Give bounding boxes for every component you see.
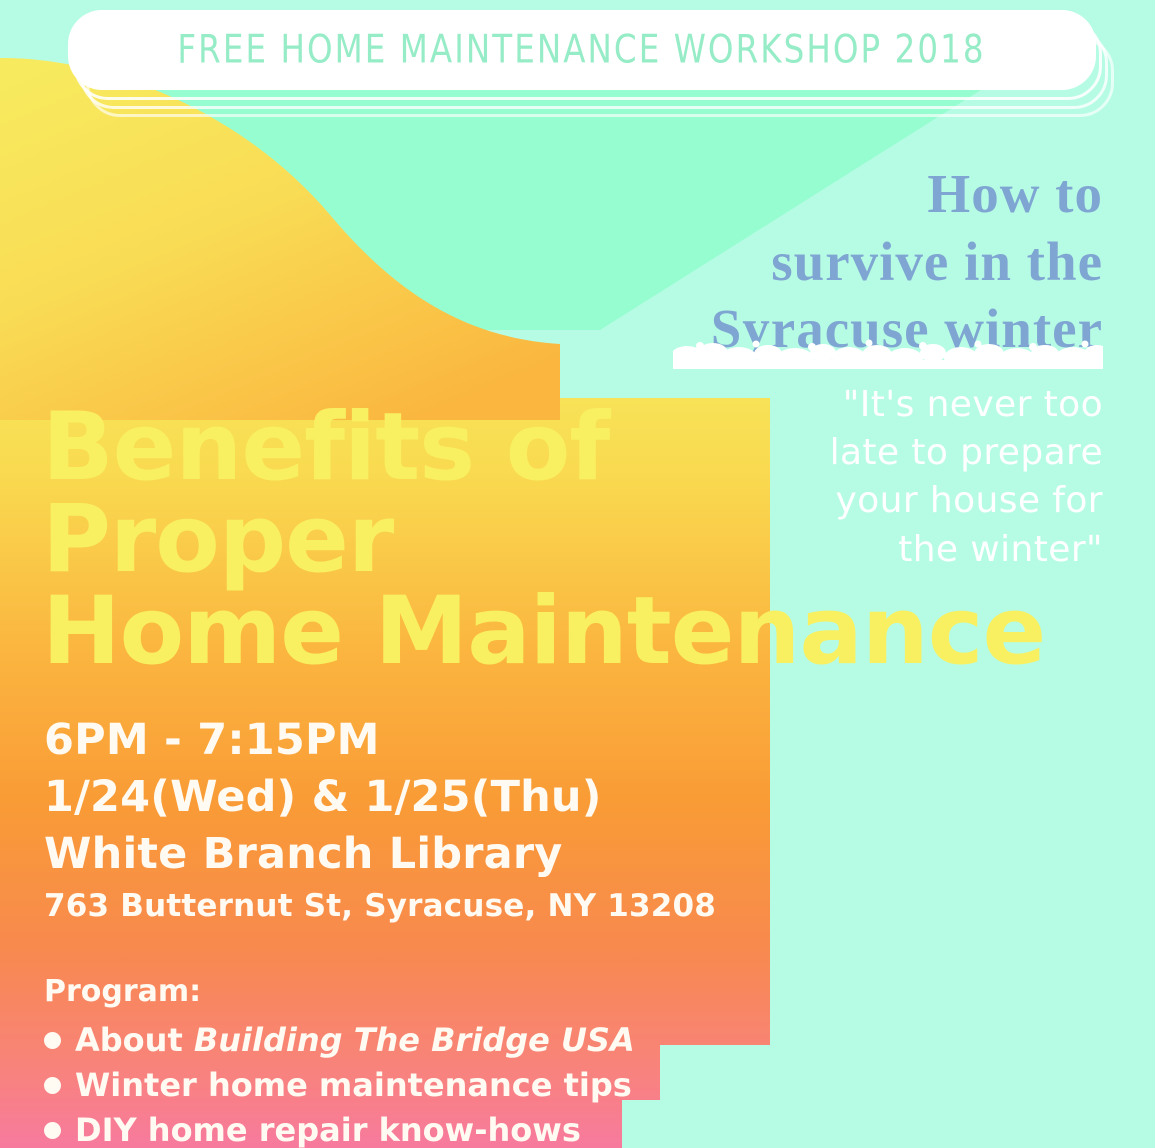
- event-details: 6PM - 7:15PM 1/24(Wed) & 1/25(Thu) White…: [44, 712, 804, 928]
- winter-heading-line-2: survive in the: [673, 228, 1103, 296]
- program-item-text: Winter home maintenance tips: [75, 1066, 632, 1104]
- bullet-icon: [44, 1122, 61, 1139]
- program-item: Winter home maintenance tips: [44, 1063, 804, 1108]
- headline-line-3: Home Maintenance: [42, 586, 1042, 678]
- poster-canvas: FREE HOME MAINTENANCE WORKSHOP 2018 How …: [0, 0, 1155, 1148]
- event-address: 763 Butternut St, Syracuse, NY 13208: [44, 884, 804, 928]
- program-item-label: DIY home repair know-hows: [75, 1108, 581, 1148]
- winter-heading: How to survive in the Syracuse winter: [673, 160, 1103, 363]
- headline-line-1: Benefits of: [42, 402, 1042, 494]
- headline-line-2: Proper: [42, 494, 1042, 586]
- program-item-label: About Building The Bridge USA: [75, 1018, 635, 1063]
- program-item-emphasis: Building The Bridge USA: [194, 1021, 635, 1059]
- header-banner-group: FREE HOME MAINTENANCE WORKSHOP 2018: [68, 10, 1096, 106]
- bullet-icon: [44, 1077, 61, 1094]
- program-item: About Building The Bridge USA: [44, 1018, 804, 1063]
- winter-heading-line-3-wrap: Syracuse winter: [673, 295, 1103, 363]
- winter-heading-line-3: Syracuse winter: [711, 298, 1103, 359]
- event-venue: White Branch Library: [44, 826, 804, 883]
- event-time: 6PM - 7:15PM: [44, 712, 804, 769]
- program-section: Program: About Building The Bridge USAWi…: [44, 970, 804, 1148]
- bullet-icon: [44, 1032, 61, 1049]
- winter-heading-line-1: How to: [673, 160, 1103, 228]
- program-item-text: About: [75, 1021, 194, 1059]
- main-headline: Benefits of Proper Home Maintenance: [42, 402, 1042, 678]
- program-item: DIY home repair know-hows: [44, 1108, 804, 1148]
- workshop-title-text: FREE HOME MAINTENANCE WORKSHOP 2018: [178, 28, 986, 73]
- event-dates: 1/24(Wed) & 1/25(Thu): [44, 769, 804, 826]
- program-list: About Building The Bridge USAWinter home…: [44, 1018, 804, 1148]
- program-item-label: Winter home maintenance tips: [75, 1063, 632, 1108]
- program-heading: Program:: [44, 970, 804, 1014]
- program-item-text: DIY home repair know-hows: [75, 1111, 581, 1148]
- header-banner: FREE HOME MAINTENANCE WORKSHOP 2018: [68, 10, 1096, 90]
